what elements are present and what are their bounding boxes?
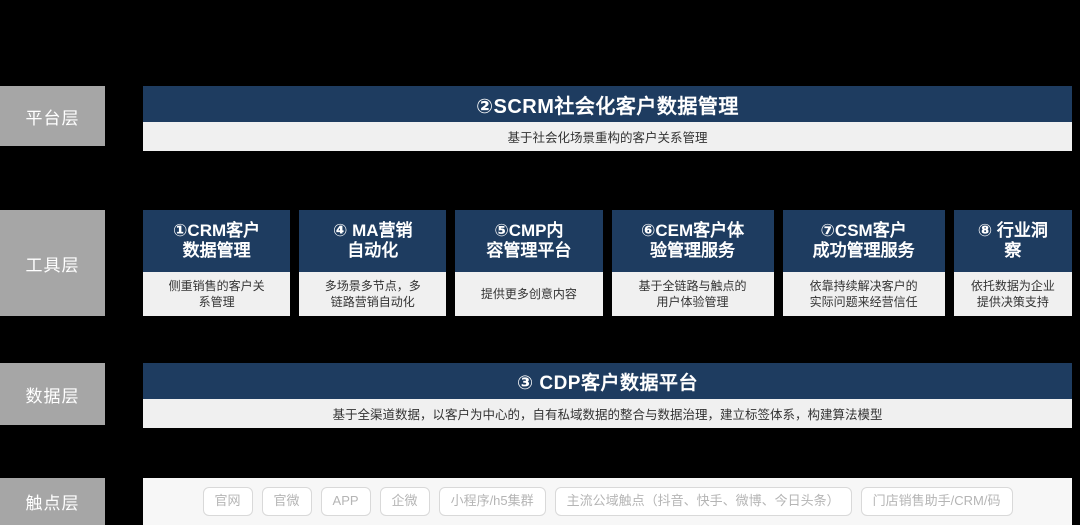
diagram-canvas: 平台层 工具层 数据层 触点层 ②SCRM社会化客户数据管理 基于社会化场景重构… [0, 0, 1080, 525]
platform-layer-subtitle: 基于社会化场景重构的客户关系管理 [143, 122, 1072, 151]
layer-label-tool: 工具层 [0, 210, 105, 316]
tool-card-6[interactable]: ⑧ 行业洞察依托数据为企业提供决策支持 [954, 210, 1072, 316]
layer-label-touch-text: 触点层 [26, 489, 80, 514]
data-layer-subtitle: 基于全渠道数据，以客户为中心的，自有私域数据的整合与数据治理，建立标签体系，构建… [143, 399, 1072, 428]
touchpoint-chip-3[interactable]: APP [321, 487, 371, 515]
tool-card-5-description: 依靠持续解决客户的实际问题来经营信任 [783, 272, 945, 316]
data-layer-title: ③ CDP客户数据平台 [143, 363, 1072, 399]
tool-card-5[interactable]: ⑦CSM客户成功管理服务依靠持续解决客户的实际问题来经营信任 [783, 210, 945, 316]
layer-label-data: 数据层 [0, 363, 105, 425]
layer-label-platform-text: 平台层 [26, 104, 80, 129]
layer-label-data-text: 数据层 [26, 382, 80, 407]
tool-card-1-title: ①CRM客户数据管理 [143, 210, 290, 272]
tool-card-2-description: 多场景多节点，多链路营销自动化 [299, 272, 446, 316]
layer-label-touch: 触点层 [0, 478, 105, 525]
tool-card-6-title: ⑧ 行业洞察 [954, 210, 1072, 272]
tool-card-1[interactable]: ①CRM客户数据管理侧重销售的客户关系管理 [143, 210, 290, 316]
tool-card-3[interactable]: ⑤CMP内容管理平台提供更多创意内容 [455, 210, 602, 316]
tool-card-3-description: 提供更多创意内容 [455, 272, 602, 316]
tool-card-4-title: ⑥CEM客户体验管理服务 [612, 210, 774, 272]
tool-card-4-description: 基于全链路与触点的用户体验管理 [612, 272, 774, 316]
touchpoint-chip-5[interactable]: 小程序/h5集群 [439, 487, 546, 515]
tool-card-1-description: 侧重销售的客户关系管理 [143, 272, 290, 316]
touchpoint-chip-2[interactable]: 官微 [262, 487, 312, 515]
touchpoint-chip-6[interactable]: 主流公域触点（抖音、快手、微博、今日头条） [555, 487, 852, 515]
tool-card-5-title: ⑦CSM客户成功管理服务 [783, 210, 945, 272]
tool-card-2-title: ④ MA营销自动化 [299, 210, 446, 272]
data-layer-banner: ③ CDP客户数据平台 基于全渠道数据，以客户为中心的，自有私域数据的整合与数据… [143, 363, 1072, 428]
tool-card-3-title: ⑤CMP内容管理平台 [455, 210, 602, 272]
tool-layer-card-row: ①CRM客户数据管理侧重销售的客户关系管理④ MA营销自动化多场景多节点，多链路… [143, 210, 1072, 316]
platform-layer-title: ②SCRM社会化客户数据管理 [143, 86, 1072, 122]
platform-layer-banner: ②SCRM社会化客户数据管理 基于社会化场景重构的客户关系管理 [143, 86, 1072, 151]
tool-card-6-description: 依托数据为企业提供决策支持 [954, 272, 1072, 316]
layer-label-tool-text: 工具层 [26, 251, 80, 276]
tool-card-2[interactable]: ④ MA营销自动化多场景多节点，多链路营销自动化 [299, 210, 446, 316]
touchpoint-layer-chip-row: 官网官微APP企微小程序/h5集群主流公域触点（抖音、快手、微博、今日头条）门店… [143, 478, 1072, 525]
tool-card-4[interactable]: ⑥CEM客户体验管理服务基于全链路与触点的用户体验管理 [612, 210, 774, 316]
touchpoint-chip-7[interactable]: 门店销售助手/CRM/码 [861, 487, 1013, 515]
layer-label-platform: 平台层 [0, 86, 105, 146]
touchpoint-chip-4[interactable]: 企微 [380, 487, 430, 515]
touchpoint-chip-1[interactable]: 官网 [203, 487, 253, 515]
